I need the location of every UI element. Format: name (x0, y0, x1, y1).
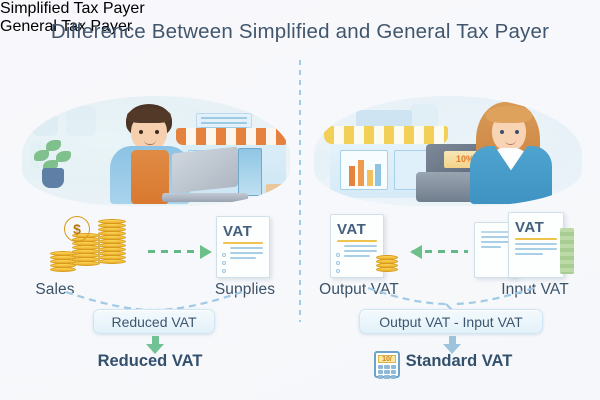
infographic-canvas: Difference Between Simplified and Genera… (0, 0, 600, 400)
produce-crate (266, 184, 286, 196)
store-window-left (340, 150, 388, 190)
vat-document-input: VAT (508, 212, 564, 278)
result-standard-vat: Standard VAT (300, 352, 600, 371)
cashier-woman-figure (460, 98, 564, 206)
formula-pill-reduced-vat[interactable]: Reduced VAT (93, 309, 215, 334)
result-reduced-vat: Reduced VAT (0, 352, 300, 371)
bg-blob (66, 106, 96, 136)
coin-stacks-sales: $ (46, 216, 146, 278)
illustration-general-taxpayer: 10% (314, 96, 582, 206)
coin-stack-small (376, 250, 406, 278)
store-sign (356, 110, 412, 126)
page-title: Difference Between Simplified and Genera… (0, 20, 600, 44)
awning-striped-yellow (324, 126, 448, 144)
dollar-coin: $ (64, 216, 90, 242)
laptop-icon (162, 150, 248, 202)
vat-document-supplies: VAT (216, 216, 270, 278)
store-sign (196, 113, 252, 128)
plant-pot (42, 168, 64, 188)
banknote-stack (560, 228, 574, 274)
illustration-simplified-taxpayer (22, 96, 290, 206)
column-heading-simplified: Simplified Tax Payer (0, 0, 272, 18)
plant-icon (34, 138, 72, 172)
bg-blob (32, 114, 58, 136)
formula-pill-output-minus-input[interactable]: Output VAT - Input VAT (359, 309, 543, 334)
